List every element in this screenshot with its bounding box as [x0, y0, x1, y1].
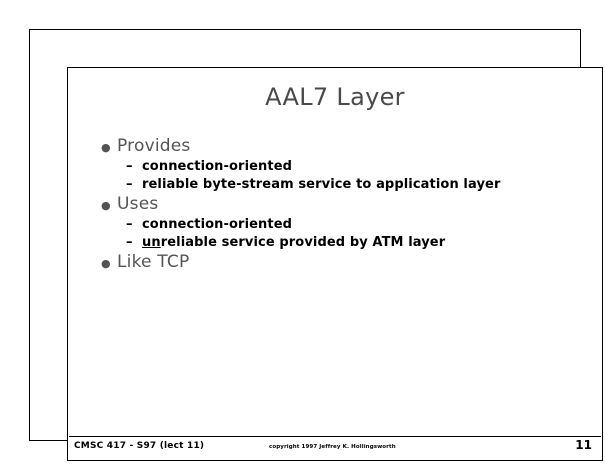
- list-item-level2: – connection-oriented: [126, 217, 590, 232]
- list-item-level2: – connection-oriented: [126, 159, 590, 174]
- list-item-level2: – reliable byte-stream service to applic…: [126, 177, 590, 192]
- bullet-icon: ●: [101, 142, 117, 153]
- dash-icon: –: [126, 177, 142, 192]
- dash-icon: –: [126, 235, 142, 250]
- footer-course-label: CMSC 417 - S97 (lect 11): [74, 441, 204, 451]
- list-item-label: connection-oriented: [142, 159, 292, 174]
- bullet-icon: ●: [101, 258, 117, 269]
- list-item-label: connection-oriented: [142, 217, 292, 232]
- page-title: AAL7 Layer: [68, 83, 602, 111]
- footer-copyright-label: copyright 1997 Jeffrey K. Hollingsworth: [269, 444, 396, 450]
- underlined-prefix: un: [142, 235, 161, 250]
- list-item-level1: ● Like TCP: [101, 252, 590, 272]
- dash-icon: –: [126, 217, 142, 232]
- bullet-icon: ●: [101, 200, 117, 211]
- slide-body-list: ● Provides – connection-oriented – relia…: [101, 134, 590, 275]
- slide-outer-frame: AAL7 Layer ● Provides – connection-orien…: [29, 29, 581, 441]
- list-item-label: Like TCP: [117, 252, 189, 272]
- page-number: 11: [575, 438, 592, 452]
- list-item-level1: ● Provides: [101, 136, 590, 156]
- slide-footer: CMSC 417 - S97 (lect 11) copyright 1997 …: [69, 436, 601, 459]
- dash-icon: –: [126, 159, 142, 174]
- list-item-label: unreliable service provided by ATM layer: [142, 235, 445, 250]
- list-item-label: Provides: [117, 136, 190, 156]
- list-item-level1: ● Uses: [101, 194, 590, 214]
- list-item-label: reliable byte-stream service to applicat…: [142, 177, 500, 192]
- list-item-label: Uses: [117, 194, 158, 214]
- list-item-level2: – unreliable service provided by ATM lay…: [126, 235, 590, 250]
- list-item-label-rest: reliable service provided by ATM layer: [161, 235, 446, 250]
- slide-inner-frame: AAL7 Layer ● Provides – connection-orien…: [67, 67, 603, 461]
